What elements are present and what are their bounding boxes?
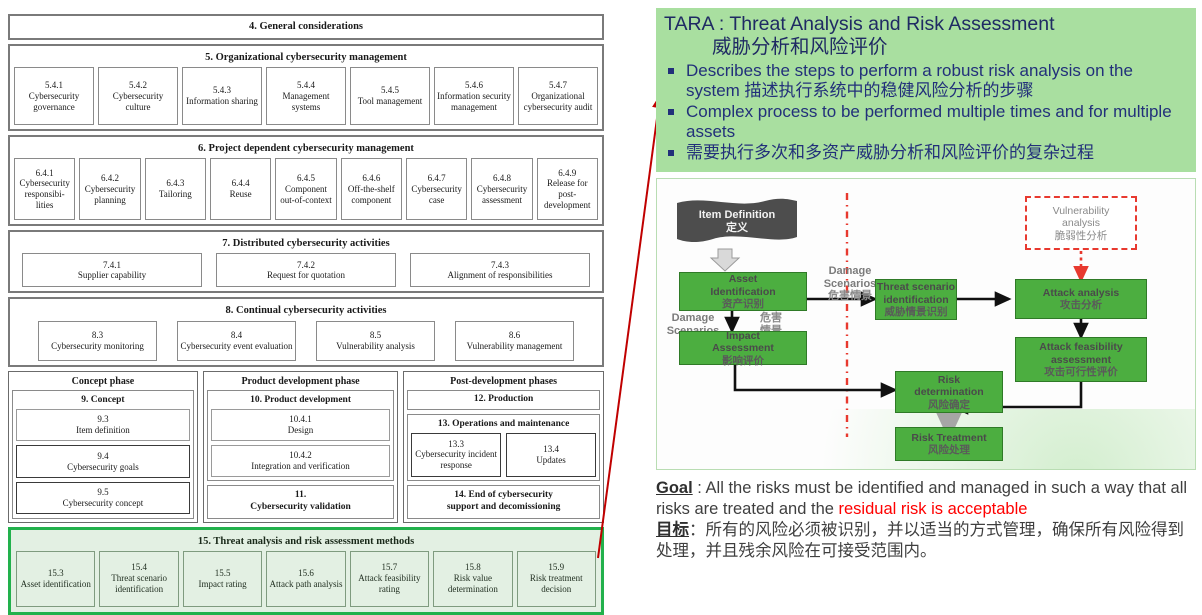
- section-7-cells: 7.4.1Supplier capability 7.4.2Request fo…: [14, 253, 598, 287]
- cell-number: 6.4.5: [297, 173, 315, 184]
- cell-15-8: 15.8Risk value determination: [433, 551, 512, 607]
- cell-number: 5.4.7: [549, 80, 567, 91]
- bullet-square-icon: [668, 150, 674, 156]
- cell-7-4-1: 7.4.1Supplier capability: [22, 253, 202, 287]
- section-4-title: 4. General considerations: [249, 20, 363, 33]
- phase-concept: Concept phase 9. Concept 9.3Item definit…: [8, 371, 198, 523]
- box-en-line2: Assessment: [712, 342, 774, 354]
- cell-label: Component out-of-context: [278, 184, 333, 206]
- cell-number: 8.6: [509, 330, 520, 341]
- cell-number: 6.4.4: [232, 178, 250, 189]
- cell-number: 7.4.3: [491, 260, 509, 271]
- tara-bullet-2: Complex process to be performed multiple…: [664, 102, 1188, 142]
- section-6-band: 6. Project dependent cybersecurity manag…: [8, 135, 604, 226]
- cell-8-3: 8.3Cybersecurity monitoring: [38, 321, 157, 361]
- box-cn: 攻击可行性评价: [1044, 366, 1118, 378]
- cell-label: Threat scenario identification: [102, 573, 175, 595]
- cell-number: 10.4.2: [214, 450, 387, 461]
- cell-label: Tool management: [358, 96, 423, 107]
- group-10-product-development: 10. Product development 10.4.1Design 10.…: [207, 390, 394, 481]
- section-15-title: 15. Threat analysis and risk assessment …: [16, 533, 596, 551]
- cell-label: Cybersecurity incident response: [414, 449, 498, 471]
- phase-product-development: Product development phase 10. Product de…: [203, 371, 398, 523]
- bullet-square-icon: [668, 109, 674, 115]
- box-cn: 风险处理: [928, 444, 970, 456]
- goal-label: Goal: [656, 479, 693, 497]
- box-en-line1: Threat scenario: [877, 281, 955, 293]
- goal-cn-text: ：所有的风险必须被识别，并以适当的方式管理，确保所有风险得到处理，并且残余风险在…: [656, 521, 1184, 560]
- cell-label: Cybersecurity goals: [19, 462, 187, 473]
- cell-number: 10.4.1: [214, 414, 387, 425]
- cell-8-4: 8.4Cybersecurity event evaluation: [177, 321, 296, 361]
- cell-label: Risk treatment decision: [520, 573, 593, 595]
- cell-label: Vulnerability management: [467, 341, 563, 352]
- cell-5-4-2: 5.4.2Cybersecurity culture: [98, 67, 178, 125]
- tara-bullet-1: Describes the steps to perform a robust …: [664, 61, 1188, 101]
- cell-number: 5.4.2: [129, 80, 147, 91]
- item-9-4: 9.4Cybersecurity goals: [16, 445, 190, 478]
- cell-number: 15.9: [548, 562, 564, 573]
- box-en-line1: Asset: [729, 273, 758, 285]
- group-12-production: 12. Production: [407, 390, 600, 410]
- bullet-text: 需要执行多次和多资产威胁分析和风险评价的复杂过程: [686, 143, 1094, 162]
- bullet-text: Describes the steps to perform a robust …: [686, 61, 1133, 100]
- bullet-text: Complex process to be performed multiple…: [686, 102, 1172, 141]
- cell-8-5: 8.5Vulnerability analysis: [316, 321, 435, 361]
- cell-label: Asset identification: [21, 579, 91, 590]
- group-line-2: support and decomissioning: [410, 502, 597, 514]
- cell-number: 5.4.4: [297, 80, 315, 91]
- cell-6-4-8: 6.4.8Cybersecurity assessment: [471, 158, 532, 220]
- item-13-3: 13.3Cybersecurity incident response: [411, 433, 501, 477]
- group-title: 13. Operations and maintenance: [411, 418, 596, 433]
- cell-number: 15.5: [215, 568, 231, 579]
- cell-6-4-5: 6.4.5Component out-of-context: [275, 158, 336, 220]
- cell-label: Cybersecurity culture: [101, 91, 175, 113]
- phase-header: Post-development phases: [407, 375, 600, 390]
- box-en-line1: Impact: [726, 330, 760, 342]
- cell-label: Attack feasibility rating: [353, 573, 426, 595]
- box-impact-assessment: Impact Assessment 影响评价: [679, 331, 807, 365]
- cell-label: Tailoring: [159, 189, 192, 200]
- bullet-square-icon: [668, 68, 674, 74]
- box-en-line2: Identification: [710, 286, 775, 298]
- cell-label: Reuse: [230, 189, 252, 200]
- group-14-end-of-support: 14. End of cybersecurity support and dec…: [407, 485, 600, 519]
- phase-post-development: Post-development phases 12. Production 1…: [403, 371, 604, 523]
- item-10-4-2: 10.4.2Integration and verification: [211, 445, 390, 477]
- cell-label: Item definition: [19, 425, 187, 436]
- cell-label: Attack path analysis: [270, 579, 343, 590]
- section-5-cells: 5.4.1Cybersecurity governance 5.4.2Cyber…: [14, 67, 598, 125]
- cell-5-4-6: 5.4.6Information security management: [434, 67, 514, 125]
- group-number: 11.: [210, 490, 391, 502]
- cell-label: Risk value determination: [436, 573, 509, 595]
- cell-number: 6.4.9: [558, 168, 576, 179]
- cell-label: Cybersecurity assessment: [474, 184, 529, 206]
- cell-number: 8.3: [92, 330, 103, 341]
- section-6-title: 6. Project dependent cybersecurity manag…: [14, 140, 598, 158]
- item-9-5: 9.5Cybersecurity concept: [16, 482, 190, 515]
- cell-number: 6.4.6: [362, 173, 380, 184]
- item-13-4: 13.4Updates: [506, 433, 596, 477]
- grey-down-arrow-icon: [711, 249, 739, 271]
- cell-number: 6.4.7: [428, 173, 446, 184]
- phase-header: Concept phase: [12, 375, 194, 390]
- cell-15-3: 15.3Asset identification: [16, 551, 95, 607]
- cell-number: 6.4.1: [36, 168, 54, 179]
- cell-6-4-3: 6.4.3Tailoring: [145, 158, 206, 220]
- cell-label: Cybersecurity planning: [82, 184, 137, 206]
- cell-label: Information sharing: [186, 96, 258, 107]
- cell-label: Design: [214, 425, 387, 436]
- cell-number: 9.3: [19, 414, 187, 425]
- cell-label: Alignment of responsibilities: [448, 270, 553, 281]
- cell-label: Off-the-shelf component: [344, 184, 399, 206]
- section-15-cells: 15.3Asset identification 15.4Threat scen…: [16, 551, 596, 607]
- group-9-concept: 9. Concept 9.3Item definition 9.4Cyberse…: [12, 390, 194, 519]
- cell-6-4-9: 6.4.9Release for post-development: [537, 158, 598, 220]
- box-vulnerability-analysis: Vulnerability analysis 脆弱性分析: [1025, 196, 1137, 250]
- group-13-items: 13.3Cybersecurity incident response 13.4…: [411, 433, 596, 477]
- box-cn: 脆弱性分析: [1055, 230, 1108, 243]
- cell-label: Cybersecurity concept: [19, 498, 187, 509]
- cell-number: 8.4: [231, 330, 242, 341]
- cell-5-4-5: 5.4.5Tool management: [350, 67, 430, 125]
- box-en-line2: identification: [883, 294, 948, 306]
- cell-7-4-2: 7.4.2Request for quotation: [216, 253, 396, 287]
- cell-6-4-4: 6.4.4Reuse: [210, 158, 271, 220]
- section-8-title: 8. Continual cybersecurity activities: [14, 302, 598, 320]
- box-attack-feasibility-assessment: Attack feasibility assessment 攻击可行性评价: [1015, 337, 1147, 382]
- cell-15-6: 15.6Attack path analysis: [266, 551, 345, 607]
- cell-8-6: 8.6Vulnerability management: [455, 321, 574, 361]
- group-11-cybersecurity-validation: 11. Cybersecurity validation: [207, 485, 394, 519]
- section-7-title: 7. Distributed cybersecurity activities: [14, 235, 598, 253]
- box-en-line1: Attack feasibility: [1039, 341, 1122, 353]
- item-definition-cn: 定义: [726, 222, 748, 235]
- cell-5-4-3: 5.4.3Information sharing: [182, 67, 262, 125]
- cell-15-7: 15.7Attack feasibility rating: [350, 551, 429, 607]
- section-6-cells: 6.4.1Cybersecurity responsibi-lities 6.4…: [14, 158, 598, 220]
- cell-15-9: 15.9Risk treatment decision: [517, 551, 596, 607]
- cell-5-4-1: 5.4.1Cybersecurity governance: [14, 67, 94, 125]
- iso21434-structure-diagram: 4. General considerations 5. Organizatio…: [8, 14, 604, 580]
- box-en-line1: Risk: [938, 374, 960, 386]
- cell-number: 6.4.8: [493, 173, 511, 184]
- cell-6-4-2: 6.4.2Cybersecurity planning: [79, 158, 140, 220]
- cell-number: 5.4.6: [465, 80, 483, 91]
- cell-15-4: 15.4Threat scenario identification: [99, 551, 178, 607]
- label-en-1: Damage: [829, 265, 872, 277]
- box-cn: 威胁情景识别: [885, 306, 948, 318]
- cell-label: Request for quotation: [267, 270, 345, 281]
- box-cn: 影响评价: [722, 355, 764, 367]
- goal-text-block: Goal : All the risks must be identified …: [656, 478, 1196, 562]
- group-13-operations-maintenance: 13. Operations and maintenance 13.3Cyber…: [407, 414, 600, 481]
- label-en-1: Damage: [672, 312, 715, 324]
- box-en-line1: Risk Treatment: [911, 432, 986, 444]
- section-8-band: 8. Continual cybersecurity activities 8.…: [8, 297, 604, 366]
- item-definition-text: Item Definition 定义: [675, 199, 799, 245]
- tara-bullet-list: Describes the steps to perform a robust …: [664, 61, 1188, 163]
- box-cn: 风险确定: [928, 399, 970, 411]
- cell-6-4-7: 6.4.7Cybersecurity case: [406, 158, 467, 220]
- cell-number: 7.4.1: [103, 260, 121, 271]
- cell-number: 13.4: [509, 444, 593, 455]
- cell-label: Supplier capability: [78, 270, 146, 281]
- cell-15-5: 15.5Impact rating: [183, 551, 262, 607]
- box-en-line2: determination: [914, 386, 983, 398]
- cell-number: 15.4: [131, 562, 147, 573]
- cell-label: Impact rating: [198, 579, 246, 590]
- group-title: 9. Concept: [16, 394, 190, 409]
- cell-number: 15.7: [382, 562, 398, 573]
- slide-canvas: 4. General considerations 5. Organizatio…: [0, 0, 1202, 589]
- item-definition-en: Item Definition: [699, 209, 775, 222]
- section-5-title: 5. Organizational cybersecurity manageme…: [14, 49, 598, 67]
- cell-number: 9.5: [19, 487, 187, 498]
- box-threat-scenario-identification: Threat scenario identification 威胁情景识别: [875, 279, 957, 320]
- cell-number: 5.4.5: [381, 85, 399, 96]
- cell-number: 13.3: [414, 439, 498, 450]
- goal-en-highlight: residual risk is acceptable: [839, 500, 1028, 518]
- cell-label: Information security management: [437, 91, 511, 113]
- group-title: 10. Product development: [211, 394, 390, 409]
- cell-label: Vulnerability analysis: [336, 341, 415, 352]
- cell-number: 15.8: [465, 562, 481, 573]
- label-cn-1: 危害: [760, 312, 782, 324]
- box-risk-treatment: Risk Treatment 风险处理: [895, 427, 1003, 461]
- tara-title-cn: 威胁分析和风险评价: [664, 36, 1188, 59]
- cell-number: 6.4.2: [101, 173, 119, 184]
- goal-label-cn: 目标: [656, 521, 689, 539]
- cell-label: Integration and verification: [214, 461, 387, 472]
- cell-number: 7.4.2: [297, 260, 315, 271]
- tara-callout: TARA : Threat Analysis and Risk Assessme…: [656, 8, 1196, 172]
- cell-label: Cybersecurity event evaluation: [181, 341, 293, 352]
- tara-panel: TARA : Threat Analysis and Risk Assessme…: [656, 8, 1196, 584]
- box-en-line2: assessment: [1051, 354, 1111, 366]
- section-4-band: 4. General considerations: [8, 14, 604, 40]
- lifecycle-phases: Concept phase 9. Concept 9.3Item definit…: [8, 371, 604, 523]
- phase-header: Product development phase: [207, 375, 394, 390]
- box-risk-determination: Risk determination 风险确定: [895, 371, 1003, 413]
- cell-number: 6.4.3: [166, 178, 184, 189]
- section-7-band: 7. Distributed cybersecurity activities …: [8, 230, 604, 293]
- box-en-line2: analysis: [1062, 217, 1100, 230]
- tara-bullet-3: 需要执行多次和多资产威胁分析和风险评价的复杂过程: [664, 143, 1188, 163]
- tara-process-flow-diagram: Item Definition 定义 Asset Identification …: [656, 178, 1196, 470]
- cell-label: Updates: [509, 455, 593, 466]
- section-5-band: 5. Organizational cybersecurity manageme…: [8, 44, 604, 131]
- section-8-cells: 8.3Cybersecurity monitoring 8.4Cybersecu…: [14, 321, 598, 361]
- label-en-2: Scenarios: [824, 278, 877, 290]
- box-en-line1: Vulnerability: [1053, 205, 1110, 218]
- group-label: 12. Production: [410, 394, 597, 406]
- group-label: Cybersecurity validation: [210, 502, 391, 514]
- label-cn: 危害情景: [828, 290, 872, 302]
- cell-6-4-1: 6.4.1Cybersecurity responsibi-lities: [14, 158, 75, 220]
- cell-7-4-3: 7.4.3Alignment of responsibilities: [410, 253, 590, 287]
- box-attack-analysis: Attack analysis 攻击分析: [1015, 279, 1147, 319]
- cell-number: 9.4: [19, 451, 187, 462]
- cell-label: Management systems: [269, 91, 343, 113]
- group-line-1: 14. End of cybersecurity: [410, 490, 597, 502]
- cell-5-4-4: 5.4.4Management systems: [266, 67, 346, 125]
- cell-label: Cybersecurity responsibi-lities: [17, 178, 72, 210]
- box-asset-identification: Asset Identification 资产识别: [679, 272, 807, 311]
- cell-number: 15.6: [298, 568, 314, 579]
- cell-label: Cybersecurity case: [409, 184, 464, 206]
- cell-label: Release for post-development: [540, 178, 595, 210]
- cell-number: 15.3: [48, 568, 64, 579]
- cell-number: 5.4.1: [45, 80, 63, 91]
- item-9-3: 9.3Item definition: [16, 409, 190, 442]
- box-en-line1: Attack analysis: [1043, 287, 1119, 299]
- cell-5-4-7: 5.4.7Organizational cybersecurity audit: [518, 67, 598, 125]
- item-10-4-1: 10.4.1Design: [211, 409, 390, 441]
- cell-label: Cybersecurity monitoring: [51, 341, 144, 352]
- cell-label: Cybersecurity governance: [17, 91, 91, 113]
- cell-label: Organizational cybersecurity audit: [521, 91, 595, 113]
- cell-number: 8.5: [370, 330, 381, 341]
- box-cn: 资产识别: [722, 298, 764, 310]
- section-15-band-highlighted: 15. Threat analysis and risk assessment …: [8, 527, 604, 615]
- tara-title-en: TARA : Threat Analysis and Risk Assessme…: [664, 14, 1188, 36]
- cell-6-4-6: 6.4.6Off-the-shelf component: [341, 158, 402, 220]
- cell-number: 5.4.3: [213, 85, 231, 96]
- box-cn: 攻击分析: [1060, 299, 1102, 311]
